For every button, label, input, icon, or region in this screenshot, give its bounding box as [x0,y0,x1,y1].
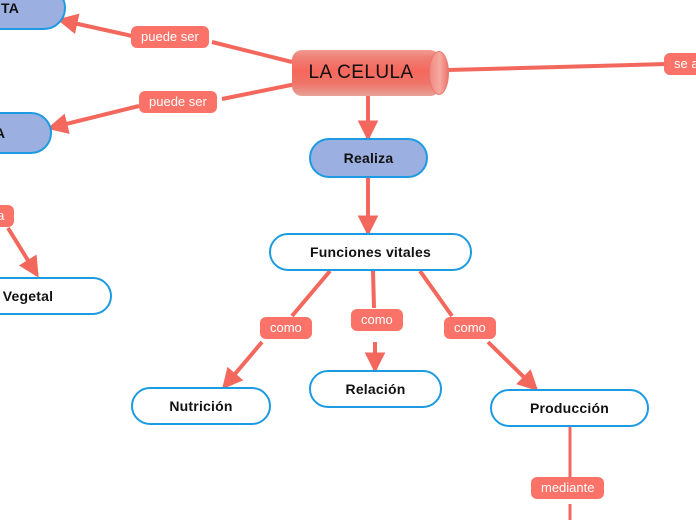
edge-center-to-topleft-a [212,42,292,62]
edge-funciones-to-produccion-a [420,271,452,316]
node-nutricion-label: Nutrición [169,398,232,414]
edge-label-como-center[interactable]: como [351,309,403,331]
edge-label-como-left-text: como [270,321,302,335]
node-vegetal-label: Vegetal [3,288,53,304]
node-la-celula[interactable]: LA CELULA [292,50,440,96]
edge-center-to-midleft-a [222,84,296,99]
node-clipped-mid-left[interactable]: A [0,112,52,154]
node-vegetal[interactable]: Vegetal [0,277,112,315]
edge-label-se-a-clipped-text: se a [674,57,696,71]
concept-map-canvas: TA A LA CELULA Realiza Funciones vitales… [0,0,696,520]
edge-center-to-midleft-b [50,106,139,128]
node-realiza[interactable]: Realiza [309,138,428,178]
edge-label-como-center-text: como [361,313,393,327]
edge-label-como-right[interactable]: como [444,317,496,339]
edge-funciones-to-nutricion-b [224,342,262,387]
node-realiza-label: Realiza [344,150,394,166]
edge-label-puede-ser-bottom[interactable]: puede ser [139,91,217,113]
node-clipped-mid-left-label: A [0,125,5,141]
edge-label-mediante[interactable]: mediante [531,477,604,499]
node-nutricion[interactable]: Nutrición [131,387,271,425]
edge-center-to-topleft-b [60,20,132,36]
edge-label-forma-clipped-text: rma [0,209,4,223]
node-funciones-vitales[interactable]: Funciones vitales [269,233,472,271]
edge-funciones-to-relacion-a [373,271,374,308]
edge-label-mediante-text: mediante [541,481,594,495]
edge-label-como-right-text: como [454,321,486,335]
edge-label-puede-ser-bottom-text: puede ser [149,95,207,109]
node-produccion-label: Producción [530,400,609,416]
edge-funciones-to-produccion-b [488,342,536,389]
edge-forma-to-vegetal [8,228,37,275]
node-clipped-top-left-label: TA [1,0,19,16]
node-funciones-vitales-label: Funciones vitales [310,244,431,260]
edge-funciones-to-nutricion-a [292,271,330,316]
node-relacion[interactable]: Relación [309,370,442,408]
edge-label-como-left[interactable]: como [260,317,312,339]
node-relacion-label: Relación [346,381,406,397]
edge-center-to-right-clipped [448,64,666,70]
node-la-celula-label: LA CELULA [292,50,440,96]
node-clipped-top-left[interactable]: TA [0,0,66,30]
edge-label-se-a-clipped[interactable]: se a [664,53,696,75]
node-produccion[interactable]: Producción [490,389,649,427]
edge-label-puede-ser-top-text: puede ser [141,30,199,44]
edge-label-forma-clipped[interactable]: rma [0,205,14,227]
edge-label-puede-ser-top[interactable]: puede ser [131,26,209,48]
